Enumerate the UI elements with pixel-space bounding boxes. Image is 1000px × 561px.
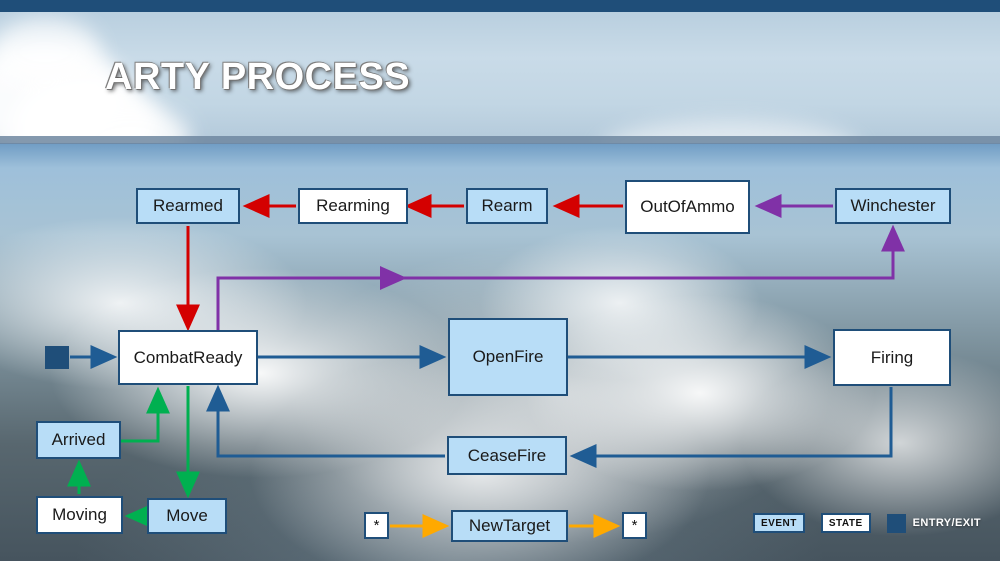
node-newtarget[interactable]: NewTarget — [451, 510, 568, 542]
wildcard-right[interactable]: * — [622, 512, 647, 539]
wildcard-label: * — [374, 517, 380, 534]
node-outofammo[interactable]: OutOfAmmo — [625, 180, 750, 234]
header-divider — [0, 136, 1000, 144]
node-ceasefire[interactable]: CeaseFire — [447, 436, 567, 475]
node-winchester[interactable]: Winchester — [835, 188, 951, 224]
slide-canvas: ARTY PROCESS — [0, 0, 1000, 561]
node-label: CombatReady — [134, 348, 243, 368]
node-firing[interactable]: Firing — [833, 329, 951, 386]
top-accent-bar — [0, 0, 1000, 12]
page-title: ARTY PROCESS — [105, 56, 410, 99]
legend-event-label: EVENT — [761, 518, 797, 529]
node-rearmed[interactable]: Rearmed — [136, 188, 240, 224]
node-moving[interactable]: Moving — [36, 496, 123, 534]
node-label: Winchester — [850, 196, 935, 216]
node-label: Rearm — [481, 196, 532, 216]
node-rearming[interactable]: Rearming — [298, 188, 408, 224]
legend: EVENT STATE ENTRY/EXIT — [753, 513, 981, 533]
node-label: Moving — [52, 505, 107, 525]
node-label: Rearming — [316, 196, 390, 216]
node-arrived[interactable]: Arrived — [36, 421, 121, 459]
wildcard-label: * — [632, 517, 638, 534]
node-label: Move — [166, 506, 208, 526]
wildcard-left[interactable]: * — [364, 512, 389, 539]
legend-entry-swatch — [887, 514, 906, 533]
node-label: Rearmed — [153, 196, 223, 216]
node-label: Arrived — [52, 430, 106, 450]
node-label: Firing — [871, 348, 914, 368]
legend-state-label: STATE — [829, 518, 863, 529]
node-move[interactable]: Move — [147, 498, 227, 534]
node-openfire[interactable]: OpenFire — [448, 318, 568, 396]
node-label: OpenFire — [473, 347, 544, 367]
entry-point-marker[interactable] — [45, 346, 69, 369]
node-rearm[interactable]: Rearm — [466, 188, 548, 224]
legend-state-swatch: STATE — [821, 513, 871, 533]
legend-event-swatch: EVENT — [753, 513, 805, 533]
node-label: OutOfAmmo — [640, 197, 734, 217]
node-combatready[interactable]: CombatReady — [118, 330, 258, 385]
node-label: CeaseFire — [468, 446, 546, 466]
legend-entry-label: ENTRY/EXIT — [913, 517, 981, 529]
node-label: NewTarget — [469, 516, 550, 536]
